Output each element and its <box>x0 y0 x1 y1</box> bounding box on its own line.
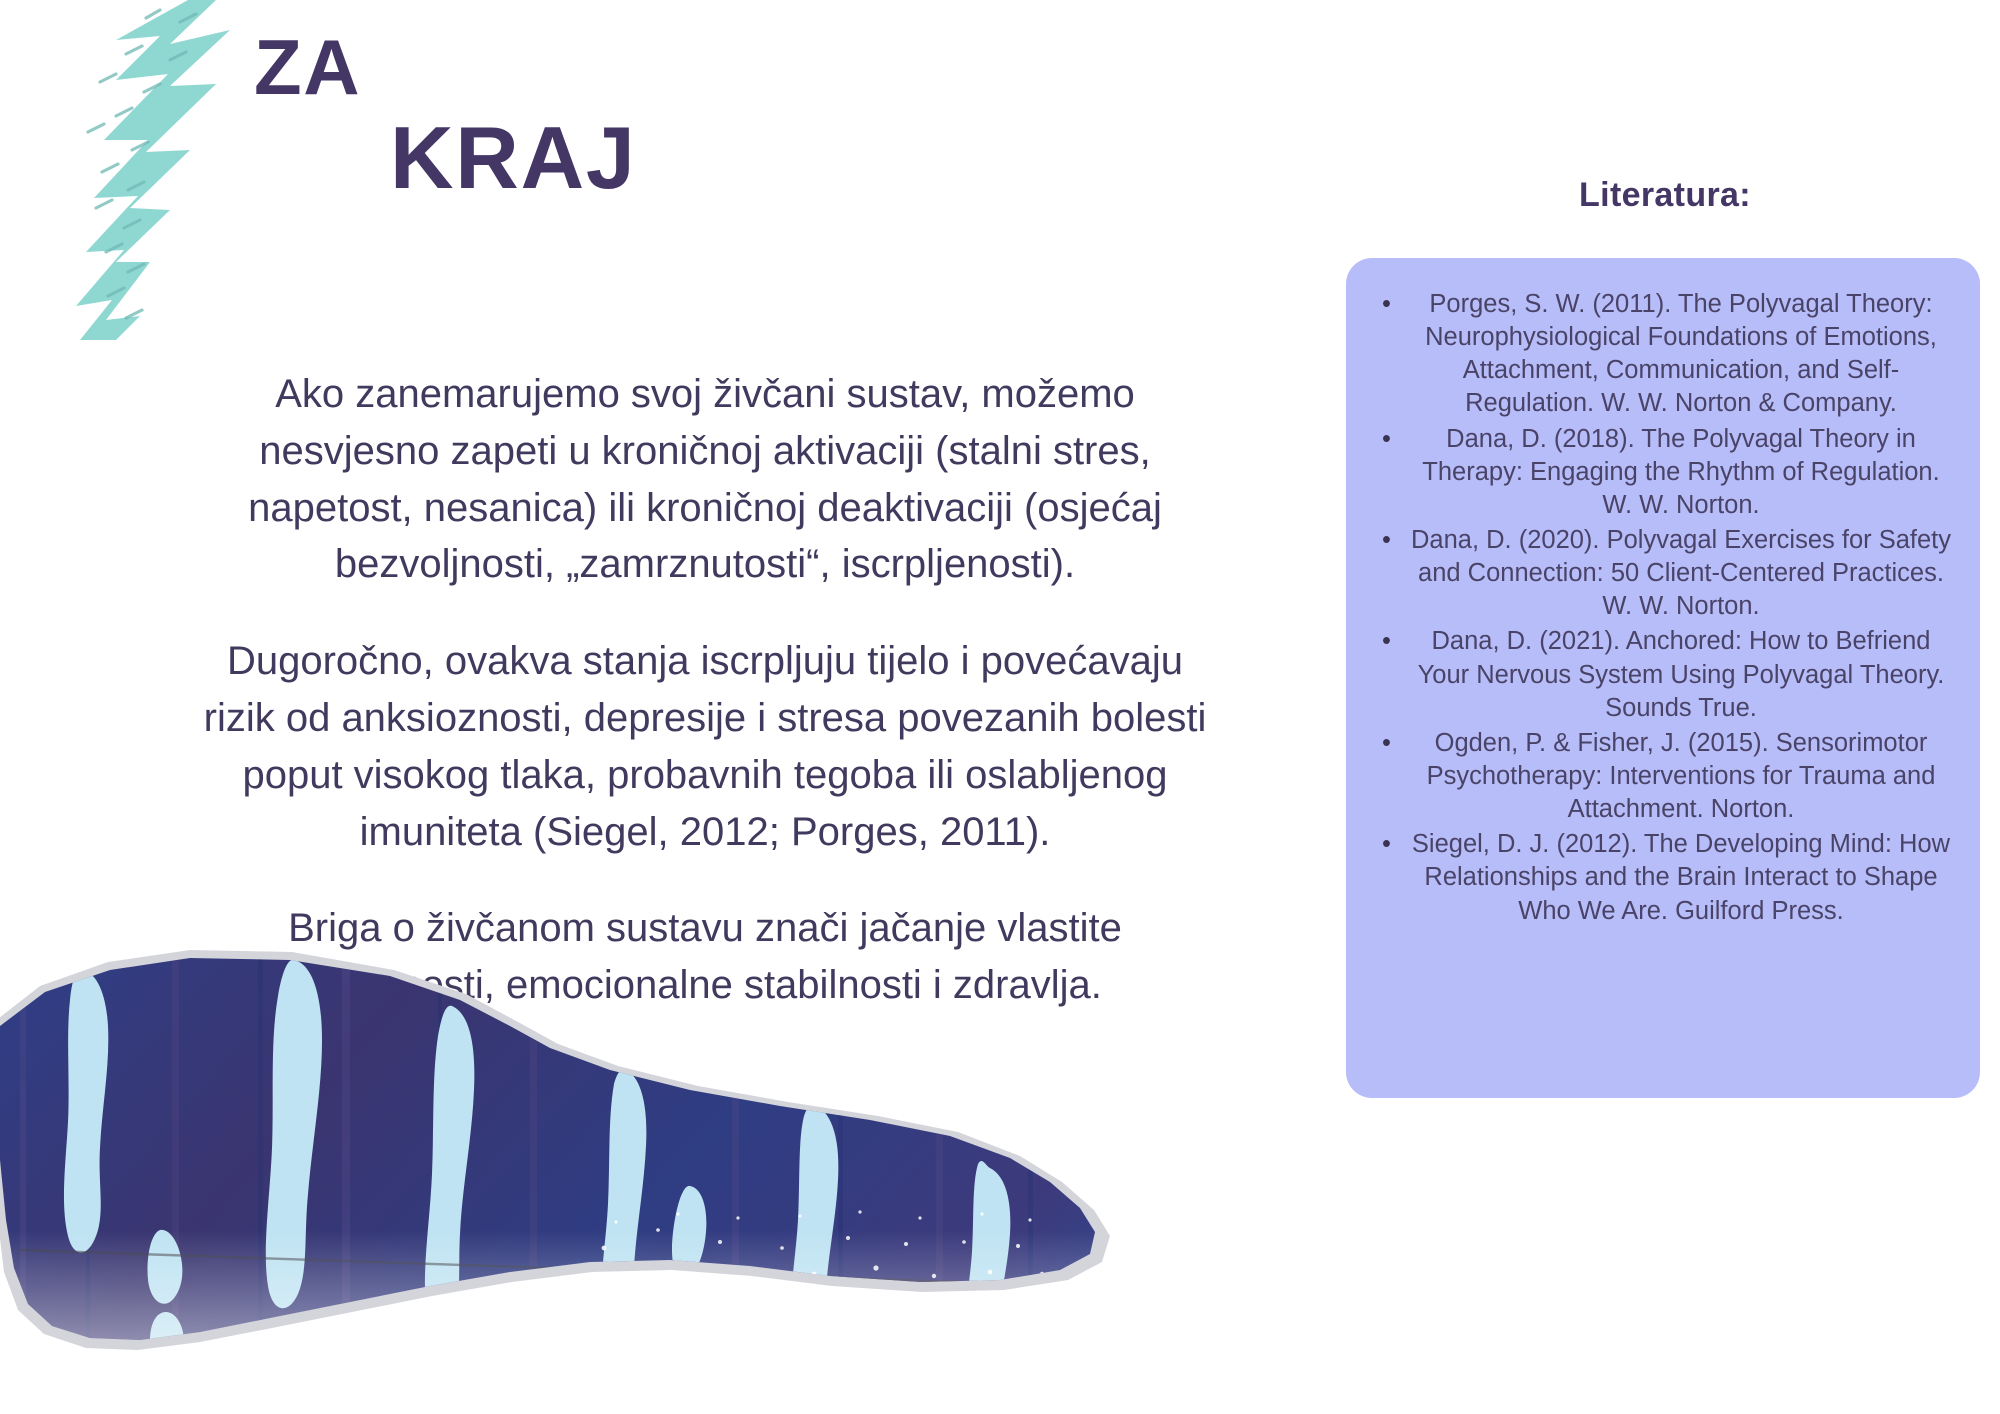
list-item: • Siegel, D. J. (2012). The Developing M… <box>1368 828 1958 927</box>
page-title: ZA KRAJ <box>250 28 970 202</box>
title-line-za: ZA <box>254 28 970 106</box>
body-paragraph-2: Dugoročno, ovakva stanja iscrpljuju tije… <box>190 633 1220 860</box>
body-copy: Ako zanemarujemo svoj živčani sustav, mo… <box>190 366 1220 1014</box>
reference-text: Dana, D. (2018). The Polyvagal Theory in… <box>1422 425 1939 519</box>
reference-text: Dana, D. (2021). Anchored: How to Befrie… <box>1418 627 1945 721</box>
bullet-icon: • <box>1382 524 1391 557</box>
literature-heading: Literatura: <box>1345 176 1985 215</box>
bullet-icon: • <box>1382 288 1391 321</box>
bullet-icon: • <box>1382 727 1391 760</box>
reference-text: Siegel, D. J. (2012). The Developing Min… <box>1412 830 1950 924</box>
reference-text: Dana, D. (2020). Polyvagal Exercises for… <box>1411 526 1951 620</box>
title-line-kraj: KRAJ <box>390 114 970 202</box>
reference-text: Ogden, P. & Fisher, J. (2015). Sensorimo… <box>1427 729 1936 823</box>
bullet-icon: • <box>1382 625 1391 658</box>
bullet-icon: • <box>1382 423 1391 456</box>
body-paragraph-1: Ako zanemarujemo svoj živčani sustav, mo… <box>190 366 1220 593</box>
list-item: • Ogden, P. & Fisher, J. (2015). Sensori… <box>1368 727 1958 826</box>
slide-canvas: ZA KRAJ Ako zanemarujemo svoj živčani su… <box>0 0 2000 1414</box>
bullet-icon: • <box>1382 828 1391 861</box>
body-paragraph-3: Briga o živčanom sustavu znači jačanje v… <box>190 900 1220 1014</box>
reference-text: Porges, S. W. (2011). The Polyvagal Theo… <box>1425 290 1937 417</box>
list-item: • Dana, D. (2021). Anchored: How to Befr… <box>1368 625 1958 724</box>
list-item: • Dana, D. (2020). Polyvagal Exercises f… <box>1368 524 1958 623</box>
literature-list: • Porges, S. W. (2011). The Polyvagal Th… <box>1368 288 1958 928</box>
list-item: • Dana, D. (2018). The Polyvagal Theory … <box>1368 423 1958 522</box>
zigzag-lightning-icon <box>20 0 280 340</box>
literature-panel: • Porges, S. W. (2011). The Polyvagal Th… <box>1346 258 1980 1098</box>
list-item: • Porges, S. W. (2011). The Polyvagal Th… <box>1368 288 1958 421</box>
